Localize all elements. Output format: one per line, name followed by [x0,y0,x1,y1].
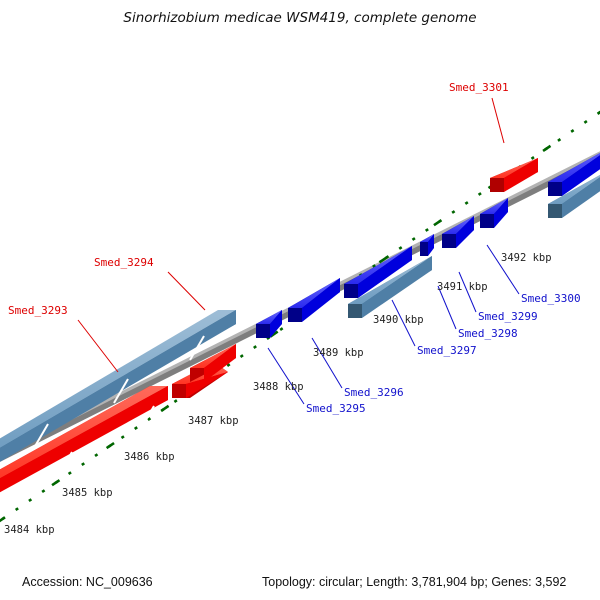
genome-diagram-canvas: 3484 kbp3485 kbp3486 kbp3487 kbp3488 kbp… [0,0,600,600]
gene-labels: Smed_3293Smed_3294Smed_3301Smed_3295Smed… [8,81,581,415]
gene-label-Smed_3297[interactable]: Smed_3297 [417,344,477,357]
gene-feature-Smed_3300[interactable] [480,198,508,228]
gene-feature-Smed_3296[interactable] [288,278,340,322]
gene-label-Smed_3294[interactable]: Smed_3294 [94,256,154,269]
gene-label-Smed_3293[interactable]: Smed_3293 [8,304,68,317]
leader-line-Smed_3293 [78,320,118,372]
gene-label-Smed_3298[interactable]: Smed_3298 [458,327,518,340]
gene-label-Smed_3301[interactable]: Smed_3301 [449,81,509,94]
ruler-tick-label: 3487 kbp [188,415,239,427]
gene-feature-Smed_3295[interactable] [256,310,282,338]
leader-line-Smed_3296 [312,338,342,388]
gene-feature-Smed_3299[interactable] [442,216,474,248]
gene-label-Smed_3300[interactable]: Smed_3300 [521,292,581,305]
gene-label-Smed_3295[interactable]: Smed_3295 [306,402,366,415]
genome-summary-label: Topology: circular; Length: 3,781,904 bp… [262,575,566,589]
leader-line-Smed_3301 [492,98,504,143]
leader-line-Smed_3295 [268,348,304,404]
gene-label-Smed_3299[interactable]: Smed_3299 [478,310,538,323]
leader-line-Smed_3294 [168,272,205,310]
ruler-tick-label: 3488 kbp [253,381,304,393]
ruler-tick-label: 3485 kbp [62,487,113,499]
ruler-tick-label: 3492 kbp [501,252,552,264]
accession-label: Accession: NC_009636 [22,575,153,589]
page-title: Sinorhizobium medicae WSM419, complete g… [123,10,476,26]
ruler-tick-label: 3486 kbp [124,451,175,463]
ruler-tick-label: 3491 kbp [437,281,488,293]
ruler-tick-label: 3484 kbp [4,524,55,536]
ruler-tick-label: 3489 kbp [313,347,364,359]
genome-viewer: 3484 kbp3485 kbp3486 kbp3487 kbp3488 kbp… [0,0,600,600]
gene-feature-Smed_3298[interactable] [420,234,434,256]
ruler-tick-label: 3490 kbp [373,314,424,326]
gene-label-Smed_3296[interactable]: Smed_3296 [344,386,404,399]
